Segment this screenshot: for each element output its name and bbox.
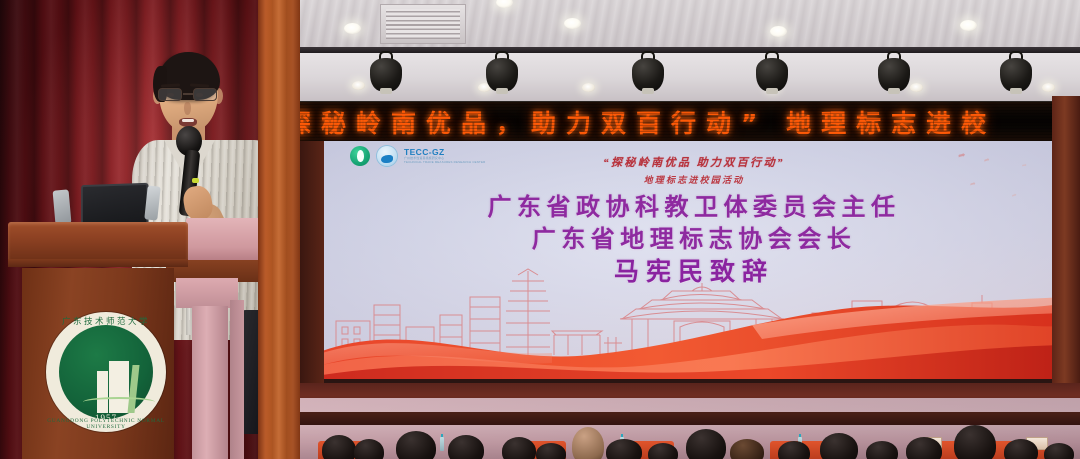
audience-head xyxy=(1044,443,1074,459)
stage-left-area: 广东技术师范大学 1957 GUANGDONG POLYTECHNIC NORM… xyxy=(0,0,300,459)
podium-side-panel-mid xyxy=(176,278,238,308)
audience-head xyxy=(730,439,764,459)
slide-title-line2: 广东省地理标志协会会长 xyxy=(322,223,1066,255)
audience-head xyxy=(354,439,384,459)
teleprompter-panel xyxy=(53,189,72,224)
audience-head xyxy=(906,437,942,459)
truss-downlight xyxy=(910,83,923,92)
audience-head xyxy=(396,431,436,459)
stage-spotlight-icon xyxy=(632,51,664,95)
audience-head xyxy=(648,443,678,459)
recessed-ceiling-light xyxy=(960,20,977,31)
lighting-truss-bar xyxy=(300,53,1080,101)
audience-head xyxy=(954,425,996,459)
truss-downlight xyxy=(1042,83,1055,92)
microphone-led xyxy=(192,178,199,183)
screen-left-bezel xyxy=(300,141,324,404)
stage-spotlight-icon xyxy=(1000,51,1032,95)
recessed-ceiling-light xyxy=(770,26,787,37)
audience-head xyxy=(502,437,536,459)
water-bottle xyxy=(440,437,444,451)
emblem-ribbon xyxy=(83,397,155,407)
audience-desk-row xyxy=(300,412,1080,425)
wooden-pillar xyxy=(258,0,300,459)
air-vent-icon xyxy=(380,4,466,44)
slide-subtitle-line2: 地理标志进校园活动 xyxy=(322,173,1066,186)
podium-top-surface xyxy=(8,222,188,260)
stage-spotlight-icon xyxy=(486,51,518,95)
slide-subtitle-line1: “探秘岭南优品 助力双百行动” xyxy=(322,154,1066,170)
audience-head xyxy=(1004,439,1038,459)
audience-head xyxy=(820,433,858,459)
conference-hall-photo: 探秘岭南优品，助力双百行动” 地理标志进校 TECC-GZ 广州技术性贸易措施研… xyxy=(0,0,1080,459)
led-banner-text: 探秘岭南优品，助力双百行动” 地理标志进校 xyxy=(300,104,996,140)
slide-subtitle: “探秘岭南优品 助力双百行动” 地理标志进校园活动 xyxy=(322,154,1066,186)
presentation-slide: TECC-GZ 广州技术性贸易措施研究中心 TECHNICAL TRADE ME… xyxy=(322,141,1066,379)
stage-spotlight-icon xyxy=(756,51,788,95)
recessed-ceiling-light xyxy=(496,0,513,8)
stage-spotlight-icon xyxy=(370,51,402,95)
audience-head xyxy=(778,441,810,459)
truss-downlight xyxy=(352,81,365,90)
recessed-ceiling-light xyxy=(564,18,581,29)
truss-downlight xyxy=(582,83,595,92)
led-text-banner: 探秘岭南优品，助力双百行动” 地理标志进校 xyxy=(300,101,1080,141)
emblem-english-name: GUANGDONG POLYTECHNIC NORMAL UNIVERSITY xyxy=(46,418,166,430)
university-emblem: 广东技术师范大学 1957 GUANGDONG POLYTECHNIC NORM… xyxy=(46,312,166,432)
audience-head xyxy=(572,427,604,459)
speaker-nose xyxy=(184,102,191,115)
audience-area xyxy=(300,404,1080,459)
audience-head xyxy=(322,435,356,459)
slide-title-line1: 广东省政协科教卫体委员会主任 xyxy=(322,191,1066,223)
emblem-inner-disc: 1957 xyxy=(59,325,153,419)
audience-head xyxy=(686,429,726,459)
recessed-ceiling-light xyxy=(344,23,361,34)
led-screen-frame: TECC-GZ 广州技术性贸易措施研究中心 TECHNICAL TRADE ME… xyxy=(300,141,1080,383)
podium-side-column-edge xyxy=(230,300,244,459)
audience-head xyxy=(448,435,484,459)
eyeglasses-icon xyxy=(156,88,220,101)
stage-spotlight-icon xyxy=(878,51,910,95)
audience-head xyxy=(536,443,566,459)
podium-side-panel-top xyxy=(186,218,260,260)
podium-side-column xyxy=(192,306,228,459)
red-ribbon-waves xyxy=(322,295,1066,379)
audience-head xyxy=(606,439,642,459)
audience-head xyxy=(866,441,898,459)
